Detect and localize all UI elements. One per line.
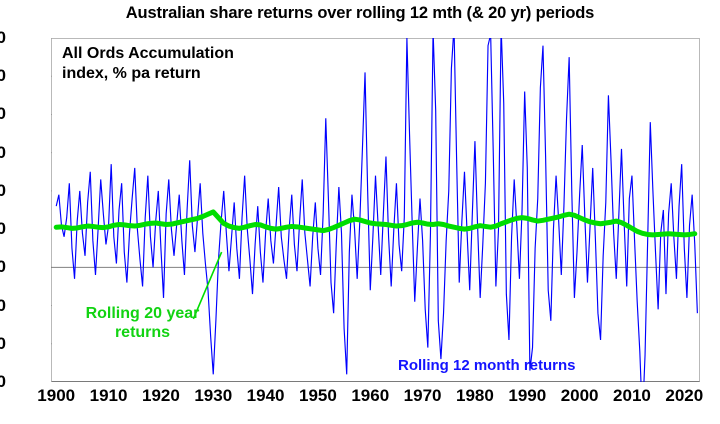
series-rolling-20-year bbox=[56, 212, 695, 235]
y-tick-label: 10 bbox=[0, 219, 6, 239]
x-tick-label: 1970 bbox=[404, 386, 442, 406]
y-tick-label: 40 bbox=[0, 104, 6, 124]
x-tick-label: 1940 bbox=[247, 386, 285, 406]
y-tick-label: 20 bbox=[0, 181, 6, 201]
x-tick-label: 2020 bbox=[665, 386, 703, 406]
x-axis-labels: 1900191019201930194019501960197019801990… bbox=[0, 386, 720, 420]
annotation-rolling-20-year-line1: Rolling 20 year bbox=[55, 305, 230, 324]
y-axis-labels: -30-20-100102030405060 bbox=[0, 0, 51, 424]
x-tick-label: 1900 bbox=[37, 386, 75, 406]
x-tick-label: 1910 bbox=[90, 386, 128, 406]
y-tick-label: -10 bbox=[0, 296, 6, 316]
annotation-all-ords-line1: All Ords Accumulation bbox=[62, 45, 234, 62]
y-tick-label: 60 bbox=[0, 28, 6, 48]
annotation-rolling-20-year-line2: returns bbox=[55, 324, 230, 343]
x-tick-label: 2010 bbox=[613, 386, 651, 406]
x-tick-label: 2000 bbox=[561, 386, 599, 406]
y-tick-label: 0 bbox=[0, 257, 6, 277]
annotation-rolling-12-month: Rolling 12 month returns bbox=[398, 357, 576, 374]
y-tick-label: 50 bbox=[0, 66, 6, 86]
y-tick-label: 30 bbox=[0, 143, 6, 163]
annotation-rolling-20-year: Rolling 20 year returns bbox=[55, 305, 230, 343]
x-tick-label: 1920 bbox=[142, 386, 180, 406]
x-tick-label: 1990 bbox=[508, 386, 546, 406]
x-tick-label: 1960 bbox=[351, 386, 389, 406]
x-tick-label: 1930 bbox=[194, 386, 232, 406]
y-tick-label: -20 bbox=[0, 334, 6, 354]
annotation-all-ords-line2: index, % pa return bbox=[62, 65, 201, 82]
x-tick-label: 1980 bbox=[456, 386, 494, 406]
annotation-all-ords: All Ords Accumulation index, % pa return bbox=[62, 44, 234, 85]
chart-root: Australian share returns over rolling 12… bbox=[0, 0, 720, 424]
x-tick-label: 1950 bbox=[299, 386, 337, 406]
chart-title: Australian share returns over rolling 12… bbox=[0, 4, 720, 23]
